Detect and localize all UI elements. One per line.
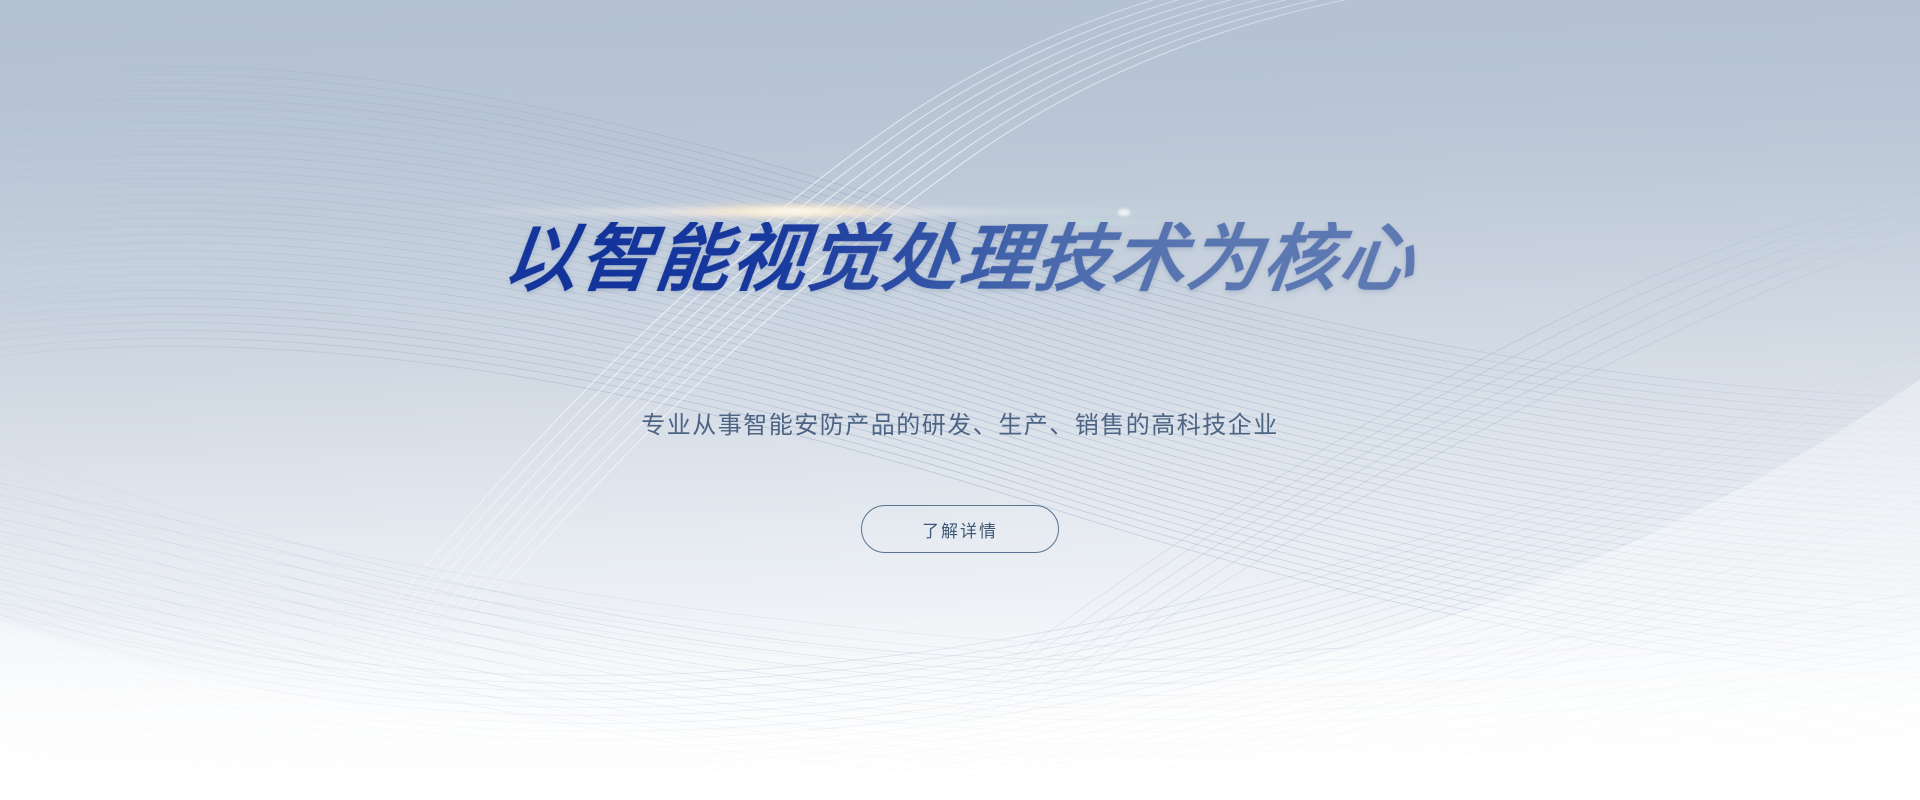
cta-container: 了解详情 (0, 505, 1920, 553)
learn-more-button[interactable]: 了解详情 (861, 505, 1059, 553)
hero-subtitle: 专业从事智能安防产品的研发、生产、销售的高科技企业 (0, 405, 1920, 440)
hero-banner: 以智能视觉处理技术为核心 专业从事智能安防产品的研发、生产、销售的高科技企业 了… (0, 0, 1920, 800)
hero-content: 以智能视觉处理技术为核心 专业从事智能安防产品的研发、生产、销售的高科技企业 了… (0, 0, 1920, 800)
page-title: 以智能视觉处理技术为核心 (0, 222, 1920, 296)
